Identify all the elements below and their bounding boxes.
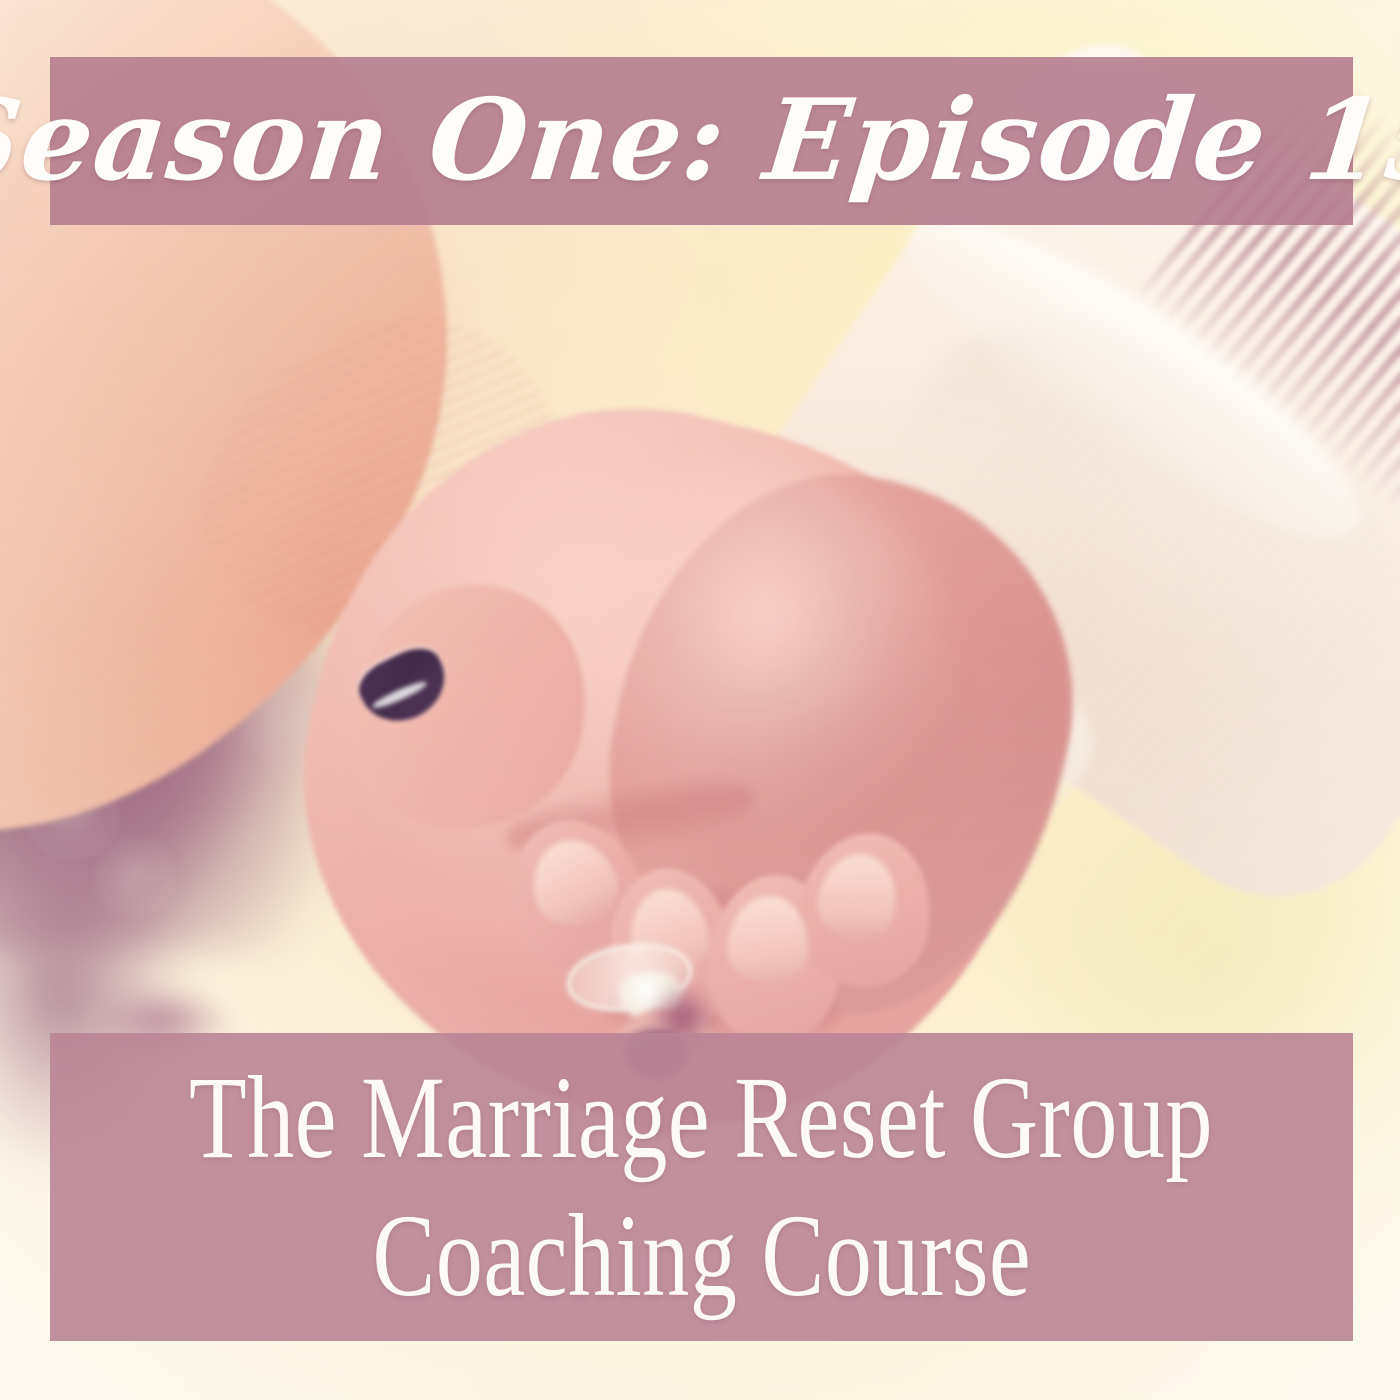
show-title-line-2: Coaching Course: [372, 1190, 1031, 1322]
show-title-banner: The Marriage Reset Group Coaching Course: [50, 1033, 1353, 1341]
episode-banner: Season One: Episode 15: [50, 57, 1353, 225]
show-title-line-1: The Marriage Reset Group: [189, 1052, 1213, 1184]
episode-title: Season One: Episode 15: [0, 85, 1400, 197]
podcast-cover-art: Season One: Episode 15 The Marriage Rese…: [0, 0, 1400, 1400]
